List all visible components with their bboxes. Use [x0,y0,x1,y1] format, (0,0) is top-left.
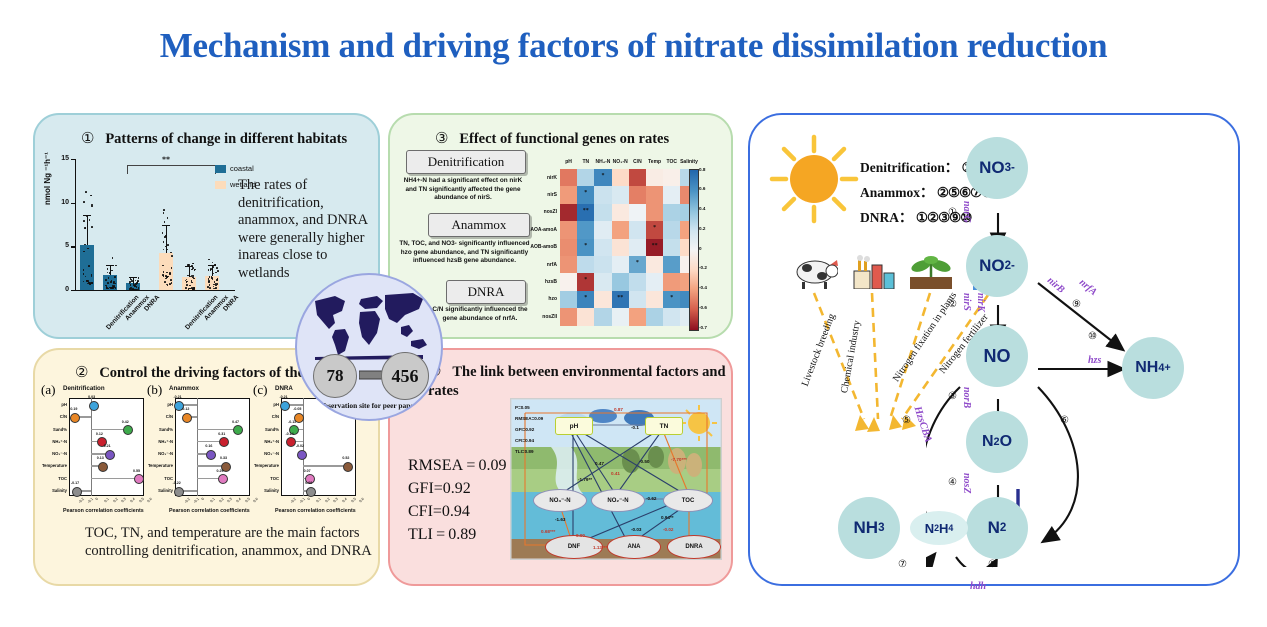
step-4: ④ [948,477,957,488]
heatmap-column-label: Salinity [677,159,700,165]
heatmap-significance: * [629,260,646,266]
lollipop-value-label: 0.47 [232,420,239,424]
heatmap-colorbar [689,169,699,331]
zero-line [197,398,198,496]
x-tick-label: 0.1 [316,497,322,503]
heatmap-cell [594,204,611,221]
step-9: ⑨ [1072,299,1081,310]
bar-y-axis [75,159,76,291]
data-point [212,266,214,268]
genedesc-dnra: C/N significantly influenced the gene ab… [430,306,530,323]
factor-label: Sand% [265,427,279,432]
lollipop-value-label: -0.19 [69,407,77,411]
significance-bracket [127,165,216,174]
data-point [217,270,219,272]
data-point [112,257,114,259]
sem-node-dnra: DNRA [667,535,721,559]
x-tick-label: -0.2 [184,497,191,504]
step-6: ⑥ [1060,415,1069,426]
heatmap-significance: * [594,173,611,179]
data-point [130,284,132,286]
heatmap-cell [629,308,646,325]
panel3-number: ③ [435,131,448,147]
x-tick-label: -0.2 [290,497,297,504]
data-point [88,265,90,267]
genebox-dnra: DNRA [446,280,526,304]
lollipop-point [182,413,192,423]
node-n2o: N2O [966,411,1028,473]
error-cap [162,225,170,226]
bar-x-axis [75,290,235,291]
graphical-abstract: Mechanism and driving factors of nitrate… [0,0,1267,627]
data-point [111,270,113,272]
x-tick-label: 0.2 [112,497,118,503]
data-point [105,279,107,281]
sem-path-value: -1.63 [555,517,565,522]
data-point [138,277,140,279]
x-tick-label: 0.2 [218,497,224,503]
node-no: NO [966,325,1028,387]
gene-hdh: hdh [970,581,986,592]
data-point [163,241,165,243]
heatmap-cell [629,186,646,203]
factor-label: NH₄⁺-N [52,439,67,444]
sem-node-no2n: NO₂⁻-N [591,489,645,512]
sem-path-diagram: pH TN NO₃⁻-N NO₂⁻-N TOC DNF ANA DNRA P=0… [510,398,722,560]
subplot-title: DNRA [275,385,293,392]
genebox-denitrification: Denitrification [406,150,526,174]
panel-environmental-link: ④ The link between environmental factors… [388,348,733,586]
cow-icon [792,255,838,289]
data-point [136,282,138,284]
heatmap-cell [577,256,594,273]
bar-y-tickmark [71,290,76,291]
colorbar-tick: 0.8 [699,167,705,172]
data-point [107,268,109,270]
lollipop-point [206,450,216,460]
factor-label: Salinity [158,488,173,493]
panel1-body-text: The rates of denitrification, anammox, a… [238,177,378,282]
panel3-heading-text: Effect of functional genes on rates [459,131,669,147]
x-tick-label: 0.4 [341,497,347,503]
sem-node-tn: TN [645,417,683,435]
bar-y-axis-label: nmol Ng ⁻¹h⁻¹ [43,152,52,205]
colorbar-tick: -0.7 [699,325,707,330]
data-point [89,283,91,285]
data-point [89,219,91,221]
heatmap-cell [663,256,680,273]
node-n2: N2 [966,497,1028,559]
colorbar-tick: 0.6 [699,186,705,191]
lollipop-value-label: -0.11 [288,420,296,424]
bar-y-tick: 10 [53,199,69,206]
data-point [209,287,211,289]
heatmap-row-label: nosZII [542,314,557,320]
x-tick-label: -0.1 [87,497,94,504]
panel4-heading-text: The link between environmental factors a… [428,364,726,399]
sem-path-value: -0.62 [646,496,656,501]
data-point [189,288,191,290]
factor-label: NH₄⁺-N [264,439,279,444]
heatmap-row-label: hzsB [545,279,557,285]
sem-node-toc: TOC [663,489,713,512]
heatmap-cell [612,239,629,256]
step-10: ⑩ [1088,331,1097,342]
data-point [192,263,194,265]
globe-caption: Observation site for peer papers [297,401,441,410]
panel2-body-text: TOC, TN, and temperature are the main fa… [85,525,375,560]
lollipop-value-label: 0.03 [88,395,95,399]
data-point [91,274,93,276]
data-point [171,267,173,269]
factor-label: TOC [164,476,173,481]
heatmap-cell [629,204,646,221]
sem-path-value: 0.41 [611,471,620,476]
sem-path-value: -0.02 [663,527,673,532]
legend-swatch-wetland [215,181,226,189]
x-tick-label: 0.3 [333,497,339,503]
sem-node-ana: ANA [607,535,661,559]
data-point [162,274,164,276]
data-point [165,275,167,277]
heatmap-cell [646,169,663,186]
heatmap-cell [629,239,646,256]
data-point [194,288,196,290]
data-point [170,279,172,281]
lollipop-value-label: 0.13 [97,456,104,460]
sem-path-value: -0.50 [639,459,649,464]
heatmap-cell [577,308,594,325]
heatmap-cell [629,291,646,308]
lollipop-value-label: -0.21 [279,395,287,399]
heatmap-cell [594,308,611,325]
bar-y-tick: 5 [53,242,69,249]
lollipop-point [280,401,290,411]
data-point [208,281,210,283]
data-point [169,272,171,274]
lollipop-value-label: 0.33 [220,456,227,460]
heatmap-row-label: AOB-amoB [530,244,557,250]
lollipop-value-label: 0.55 [133,469,140,473]
heatmap-cell [577,169,594,186]
factor-label: Sand% [53,427,67,432]
heatmap-significance: * [646,225,663,231]
legend-dnra-label: DNRA： [860,210,913,225]
legend-anammox-label: Anammox： [860,185,934,200]
heatmap-significance: * [663,295,680,301]
data-point [213,273,215,275]
heatmap-significance: ** [646,243,663,249]
sem-path-value: 0.87 [614,407,623,412]
node-no2: NO2- [966,235,1028,297]
data-point [113,286,115,288]
data-point [107,282,109,284]
observation-sites-globe: 78 456 Observation site for peer papers [295,273,443,421]
factor-label: Salinity [264,488,279,493]
data-point [91,282,93,284]
heatmap-cell [577,221,594,238]
colorbar-tick: -0.6 [699,305,707,310]
sem-path-value: -0.03 [631,527,641,532]
data-point [215,272,217,274]
colorbar-tick: 0 [699,246,702,251]
data-point [170,252,172,254]
step-7: ⑦ [898,559,907,570]
subplot-letter: (c) [253,382,267,398]
heatmap-cell [612,273,629,290]
data-point [84,227,86,229]
panel4-heading: ④ The link between environmental factors… [428,363,728,401]
factor-label: pH [167,402,173,407]
lollipop-value-label: -0.17 [71,481,79,485]
data-point [105,285,107,287]
heatmap-cell [646,186,663,203]
bar-y-tickmark [71,159,76,160]
lollipop-stem [91,478,138,480]
heatmap-row-label: nrfA [547,262,557,268]
data-point [115,265,117,267]
heatmap-significance: * [577,190,594,196]
sem-path-value: -1.79** [578,477,592,482]
significance-stars: ** [162,155,170,164]
lollipop-stem [303,465,348,467]
data-point [91,204,93,206]
heatmap-cell [612,204,629,221]
factor-label: C/N [60,414,67,419]
x-axis-label: Pearson correlation coefficients [275,508,356,514]
heatmap-cell [560,186,577,203]
data-point [164,221,166,223]
sem-node-ph: pH [555,417,593,435]
heatmap-cell [663,204,680,221]
data-point [164,281,166,283]
panel1-heading: ① Patterns of change in different habita… [81,129,347,148]
step-5: ⑤ [902,415,911,426]
sem-path-value: 0.90 [576,533,585,538]
heatmap-cell [560,256,577,273]
sem-stat: TLI=0.89 [515,449,534,454]
factor-label: NO₃⁻-N [264,451,279,456]
data-point [171,255,173,257]
bar-y-tickmark [71,246,76,247]
heatmap-cell [594,221,611,238]
data-point [166,239,168,241]
data-point [185,287,187,289]
x-tick-label: 0.2 [324,497,330,503]
heatmap-cell [612,256,629,273]
colorbar-tick: 0.2 [699,226,705,231]
data-point [110,281,112,283]
heatmap-cell [663,221,680,238]
data-point [167,244,169,246]
data-point [91,195,93,197]
heatmap-cell [594,239,611,256]
x-tick-label: 0.1 [210,497,216,503]
heatmap-cell [663,169,680,186]
sem-path-value: 0.94** [661,515,674,520]
lollipop-point [72,487,82,497]
heatmap-cell [612,221,629,238]
error-bar [87,215,88,245]
data-point [191,269,193,271]
genedesc-anammox: TN, TOC, and NO3- significantly influenc… [398,240,531,266]
world-map-icon [305,289,433,363]
bar-y-tick: 15 [53,155,69,162]
data-point [162,232,164,234]
x-axis-label: Pearson correlation coefficients [169,508,250,514]
panel2-heading: ② Control the driving factors of the rat… [75,363,333,382]
data-point [87,280,89,282]
x-tick-label: 0 [200,497,204,501]
lollipop-point [174,487,184,497]
gene-nosZ: nosZ [961,473,972,494]
data-point [167,217,169,219]
x-tick-label: 0.5 [350,497,356,503]
data-point [135,289,137,291]
sem-node-no3n: NO₃⁻-N [533,489,587,512]
lollipop-point [297,450,307,460]
heatmap-cell [560,221,577,238]
factor-label: pH [61,402,67,407]
factor-label: Temperature [148,463,173,468]
x-tick-label: 0.4 [129,497,135,503]
lollipop-value-label: 0.09 [305,481,312,485]
data-point [83,251,85,253]
subplot-letter: (a) [41,382,55,398]
heatmap-row-label: AOA-amoA [530,227,557,233]
lollipop-point [105,450,115,460]
data-point [164,236,166,238]
gene-narG: narG [961,201,972,223]
lollipop-value-label: -0.21 [173,395,181,399]
heatmap-cell [663,239,680,256]
step-2: ② [948,299,957,310]
heatmap-cell [663,308,680,325]
panel3-heading: ③ Effect of functional genes on rates [435,129,669,148]
gene-norB: norB [961,387,972,408]
data-point [212,262,214,264]
heatmap-significance: * [577,243,594,249]
heatmap-cell [646,308,663,325]
lollipop-value-label: -0.22 [173,481,181,485]
sem-path-value: 0.68*** [541,529,555,534]
heatmap-cell [629,221,646,238]
x-tick-label: 0 [94,497,98,501]
legend-swatch-coastal [215,165,226,173]
heatmap-significance: * [577,277,594,283]
heatmap-cell [560,239,577,256]
heatmap-cell [646,291,663,308]
lollipop-value-label: 0.12 [96,432,103,436]
heatmap-cell [629,273,646,290]
gene-environment-heatmap: ************** pHTNNH₄-NNO₃-NC/NTempTOCS… [534,157,689,332]
data-point [191,265,193,267]
x-tick-label: 0.1 [104,497,110,503]
lollipop-value-label: 0.52 [342,456,349,460]
factor-label: pH [273,402,279,407]
genebox-anammox: Anammox [428,213,530,237]
lollipop-stem [91,429,127,431]
page-title: Mechanism and driving factors of nitrate… [0,26,1267,66]
x-tick-label: 0.4 [235,497,241,503]
colorbar-tick: -0.4 [699,285,707,290]
sem-stat: RMSEA=0.09 [515,416,543,421]
colorbar-tick: 0.4 [699,206,705,211]
zero-line [91,398,92,496]
lollipop-point [218,474,228,484]
lollipop-point [89,401,99,411]
pearson-chart-2: (b)Anammox-0.21pH-0.12C/N0.47Sand%0.31NH… [153,398,253,520]
data-point [215,287,217,289]
data-point [85,191,87,193]
sem-stat: CFI=0.94 [515,438,534,443]
data-point [187,264,189,266]
heatmap-significance: * [577,295,594,301]
sun-icon [766,131,862,227]
data-point [83,273,85,275]
x-tick-label: 0.3 [227,497,233,503]
factor-label: Salinity [52,488,67,493]
step-8: ⑧ [988,559,997,570]
factor-label: NO₃⁻-N [52,451,67,456]
heatmap-cell [594,256,611,273]
heatmap-cell [594,291,611,308]
data-point [83,201,85,203]
heatmap-cell [612,186,629,203]
x-tick-label: 0.5 [138,497,144,503]
data-point [83,220,85,222]
heatmap-cell [560,291,577,308]
node-no3: NO3- [966,137,1028,199]
heatmap-cell [560,169,577,186]
heatmap-row-label: hzo [548,296,557,302]
x-tick-label: -0.2 [78,497,85,504]
subplot-letter: (b) [147,382,162,398]
data-point [91,226,93,228]
x-axis-label: Pearson correlation coefficients [63,508,144,514]
panel1-heading-text: Patterns of change in different habitats [105,131,347,147]
panel-functional-genes: ③ Effect of functional genes on rates De… [388,113,733,339]
subplot-title: Denitrification [63,385,105,392]
data-point [109,272,111,274]
heatmap-significance: ** [577,208,594,214]
heatmap-cell [663,186,680,203]
node-nh4: NH4+ [1122,337,1184,399]
panel1-number: ① [81,131,94,147]
data-point [135,277,137,279]
data-point [186,284,188,286]
site-count-before: 78 [313,354,357,398]
heatmap-cell [663,273,680,290]
factor-label: C/N [272,414,279,419]
lollipop-point [98,462,108,472]
factory-icon [850,255,896,289]
heatmap-row-label: nirK [547,175,557,181]
x-tick-label: -0.1 [193,497,200,504]
lollipop-stem [197,429,238,431]
colorbar-tick: -0.2 [699,265,707,270]
lollipop-value-label: -0.12 [181,407,189,411]
heatmap-cell [646,256,663,273]
lollipop-value-label: -0.02 [296,444,304,448]
bar-y-tickmark [71,203,76,204]
factor-label: C/N [166,414,173,419]
lollipop-value-label: 0.21 [104,444,111,448]
subplot-title: Anammox [169,385,199,392]
factor-label: Temperature [254,463,279,468]
sem-stat: GFI=0.92 [515,427,534,432]
lollipop-value-label: 0.42 [122,420,129,424]
